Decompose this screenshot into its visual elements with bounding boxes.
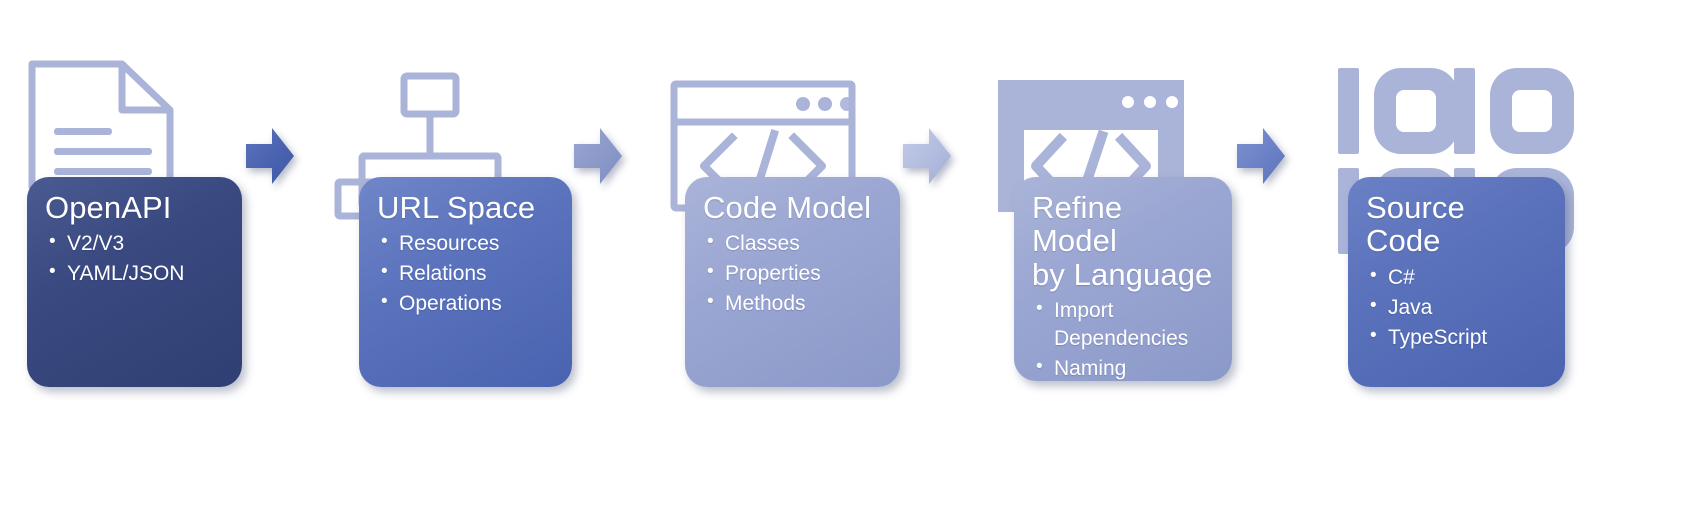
card-bullet-list: Classes Properties Methods — [703, 230, 882, 318]
card-title: URL Space — [377, 191, 554, 224]
card-title: Refine Model by Language — [1032, 191, 1214, 291]
card-title: OpenAPI — [45, 191, 224, 224]
card-bullet-list: V2/V3 YAML/JSON — [45, 230, 224, 288]
stage-card-source-code[interactable]: Source Code C# Java TypeScript — [1348, 177, 1565, 387]
arrow-code-model-to-refine-model — [903, 128, 951, 184]
list-item: Operations — [377, 290, 554, 318]
card-bullet-list: Import Dependencies Naming Conventions — [1032, 297, 1214, 381]
stage-card-refine-model[interactable]: Refine Model by Language Import Dependen… — [1014, 177, 1232, 381]
card-bullet-list: C# Java TypeScript — [1366, 264, 1547, 352]
diagram-canvas: OpenAPI V2/V3 YAML/JSON — [0, 0, 1704, 506]
list-item: YAML/JSON — [45, 260, 224, 288]
arrow-url-space-to-code-model — [574, 128, 622, 184]
card-title: Code Model — [703, 191, 882, 224]
arrow-openapi-to-url-space — [246, 128, 294, 184]
list-item: TypeScript — [1366, 324, 1547, 352]
card-bullet-list: Resources Relations Operations — [377, 230, 554, 318]
document-icon — [26, 58, 176, 193]
arrow-refine-model-to-source-code — [1237, 128, 1285, 184]
card-title: Source Code — [1366, 191, 1547, 258]
list-item: V2/V3 — [45, 230, 224, 258]
stage-card-url-space[interactable]: URL Space Resources Relations Operations — [359, 177, 572, 387]
list-item: Methods — [703, 290, 882, 318]
list-item: Properties — [703, 260, 882, 288]
list-item: Import Dependencies — [1032, 297, 1214, 353]
stage-card-openapi[interactable]: OpenAPI V2/V3 YAML/JSON — [27, 177, 242, 387]
list-item: Resources — [377, 230, 554, 258]
list-item: Java — [1366, 294, 1547, 322]
list-item: Naming Conventions — [1032, 355, 1214, 381]
list-item: C# — [1366, 264, 1547, 292]
list-item: Classes — [703, 230, 882, 258]
list-item: Relations — [377, 260, 554, 288]
stage-card-code-model[interactable]: Code Model Classes Properties Methods — [685, 177, 900, 387]
